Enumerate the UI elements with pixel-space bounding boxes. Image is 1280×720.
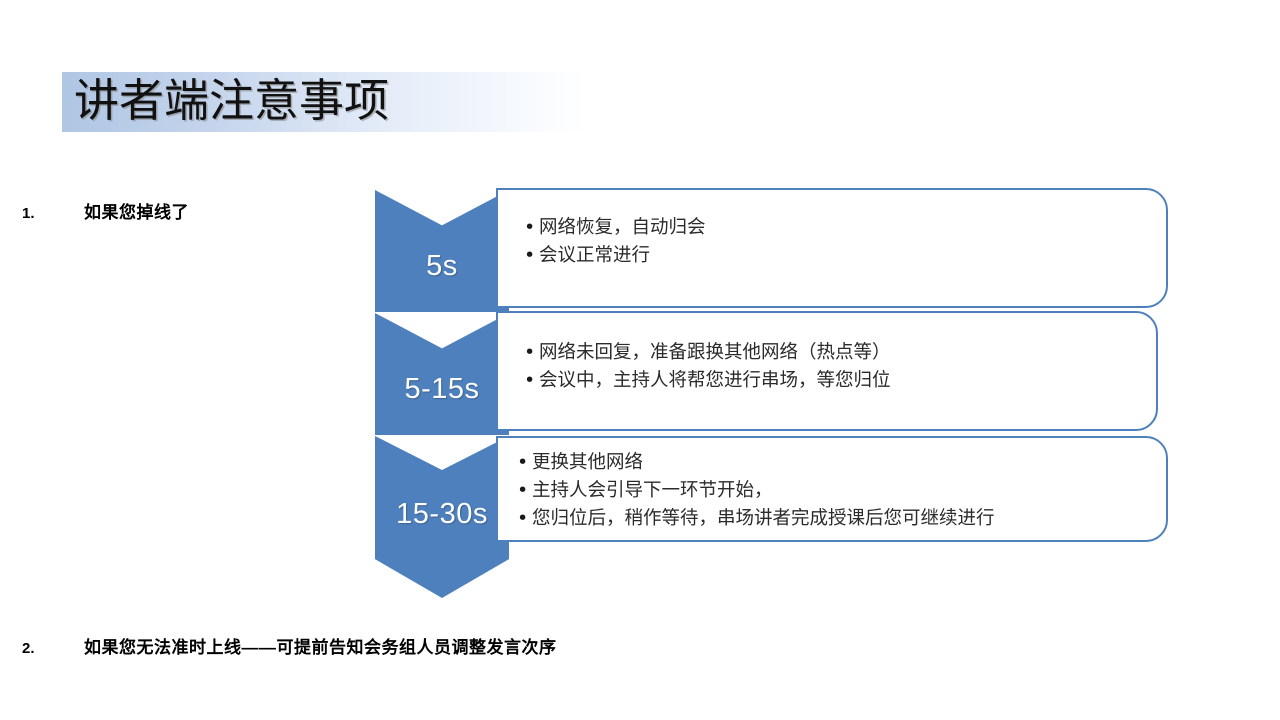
page-title: 讲者端注意事项 [74, 70, 389, 132]
bullet-list-3: 更换其他网络 主持人会引导下一环节开始， 您归位后，稍作等待，串场讲者完成授课后… [517, 449, 1166, 533]
bullet-item: 会议中，主持人将帮您进行串场，等您归位 [524, 367, 1156, 395]
bullet-item: 您归位后，稍作等待，串场讲者完成授课后您可继续进行 [517, 505, 1166, 533]
bullet-item: 会议正常进行 [524, 242, 1166, 270]
content-box-1: 网络恢复，自动归会 会议正常进行 [496, 188, 1168, 308]
numbered-item-2-label: 如果您无法准时上线——可提前告知会务组人员调整发言次序 [84, 638, 557, 657]
numbered-item-1: 1.如果您掉线了 [22, 198, 189, 223]
chevron-2: 5-15s [375, 313, 509, 435]
numbered-item-1-label: 如果您掉线了 [84, 203, 189, 222]
bullet-list-2: 网络未回复，准备跟换其他网络（热点等） 会议中，主持人将帮您进行串场，等您归位 [524, 339, 1156, 395]
chevron-1-time-label: 5s [375, 250, 509, 283]
numbered-item-2: 2.如果您无法准时上线——可提前告知会务组人员调整发言次序 [22, 633, 557, 658]
content-box-3: 更换其他网络 主持人会引导下一环节开始， 您归位后，稍作等待，串场讲者完成授课后… [496, 436, 1168, 542]
bullet-item: 更换其他网络 [517, 449, 1166, 477]
numbered-item-2-number: 2. [22, 640, 84, 657]
bullet-list-1: 网络恢复，自动归会 会议正常进行 [524, 214, 1166, 270]
chevron-2-time-label: 5-15s [375, 373, 509, 406]
chevron-3-time-label: 15-30s [375, 498, 509, 531]
chevron-3: 15-30s [375, 436, 509, 598]
bullet-item: 网络恢复，自动归会 [524, 214, 1166, 242]
numbered-item-1-number: 1. [22, 205, 84, 222]
bullet-item: 主持人会引导下一环节开始， [517, 477, 1166, 505]
content-box-2: 网络未回复，准备跟换其他网络（热点等） 会议中，主持人将帮您进行串场，等您归位 [496, 311, 1158, 431]
bullet-item: 网络未回复，准备跟换其他网络（热点等） [524, 339, 1156, 367]
chevron-1: 5s [375, 190, 509, 312]
